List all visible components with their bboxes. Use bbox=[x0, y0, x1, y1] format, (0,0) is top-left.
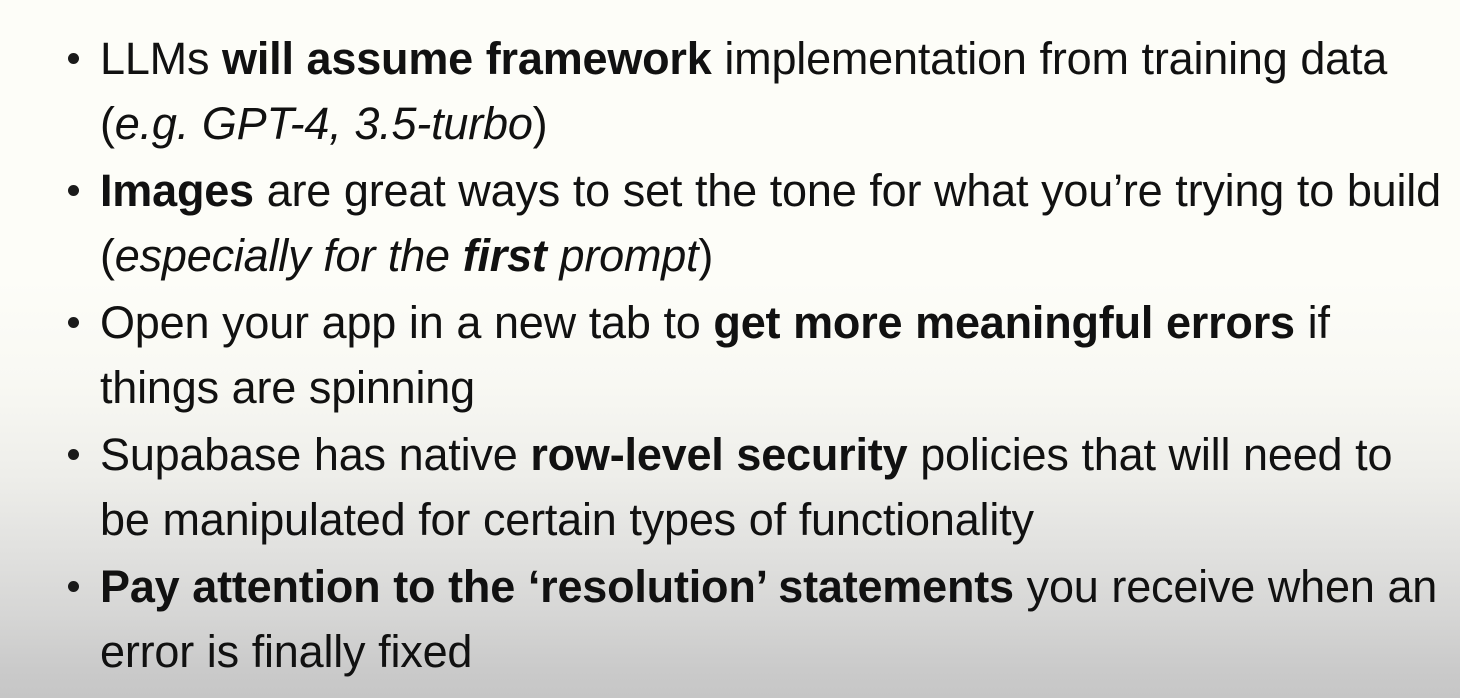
list-item: Pay attention to the ‘resolution’ statem… bbox=[62, 554, 1442, 684]
bullet-text: Images are great ways to set the tone fo… bbox=[100, 158, 1442, 288]
list-item: Images are great ways to set the tone fo… bbox=[62, 158, 1442, 288]
bullet-text: Pay attention to the ‘resolution’ statem… bbox=[100, 554, 1442, 684]
slide-canvas: LLMs will assume framework implementatio… bbox=[0, 0, 1460, 698]
list-item: Open your app in a new tab to get more m… bbox=[62, 290, 1442, 420]
bullet-text: LLMs will assume framework implementatio… bbox=[100, 26, 1442, 156]
bullet-dot-icon bbox=[68, 449, 79, 460]
list-item: LLMs will assume framework implementatio… bbox=[62, 26, 1442, 156]
bullet-list: LLMs will assume framework implementatio… bbox=[62, 26, 1442, 686]
bullet-text: Open your app in a new tab to get more m… bbox=[100, 290, 1442, 420]
list-item: Supabase has native row-level security p… bbox=[62, 422, 1442, 552]
bullet-dot-icon bbox=[68, 317, 79, 328]
bullet-text: Supabase has native row-level security p… bbox=[100, 422, 1442, 552]
bullet-dot-icon bbox=[68, 53, 79, 64]
bullet-dot-icon bbox=[68, 185, 79, 196]
bullet-dot-icon bbox=[68, 581, 79, 592]
